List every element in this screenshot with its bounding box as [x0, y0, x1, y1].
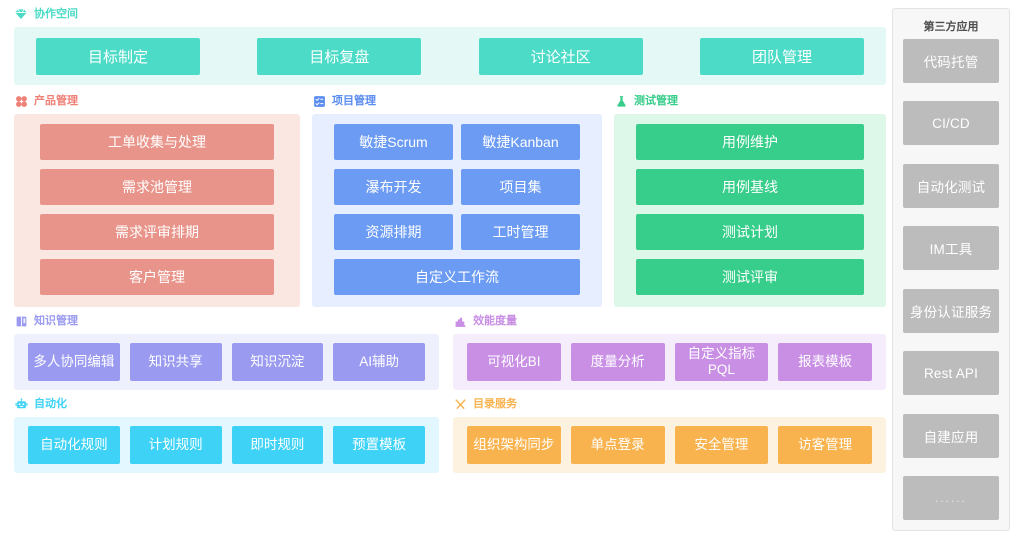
third-party-column: 第三方应用 代码托管 CI/CD 自动化测试 IM工具 身份认证服务 Rest … [886, 4, 1024, 547]
collab-tile-1[interactable]: 目标复盘 [257, 38, 421, 75]
section-knowledge: 知识管理 多人协同编辑 知识共享 知识沉淀 AI辅助 [14, 311, 439, 390]
directory-tile-2[interactable]: 安全管理 [675, 426, 769, 464]
automation-tile-3[interactable]: 预置模板 [333, 426, 425, 464]
row-automation-directory: 自动化 自动化规则 计划规则 即时规则 预置模板 目录服务 [14, 394, 886, 473]
section-header-automation: 自动化 [14, 394, 439, 414]
automation-tile-0[interactable]: 自动化规则 [28, 426, 120, 464]
section-header-metrics: 效能度量 [453, 311, 886, 331]
section-title-product: 产品管理 [34, 96, 78, 107]
bar-chart-icon [453, 314, 467, 328]
section-title-test: 测试管理 [634, 96, 678, 107]
test-tile-1[interactable]: 用例基线 [636, 169, 864, 205]
directory-tile-1[interactable]: 单点登录 [571, 426, 665, 464]
project-tile-3[interactable]: 项目集 [461, 169, 580, 205]
section-title-knowledge: 知识管理 [34, 316, 78, 327]
automation-panel: 自动化规则 计划规则 即时规则 预置模板 [14, 417, 439, 473]
project-tile-2[interactable]: 瀑布开发 [334, 169, 453, 205]
project-tile-6[interactable]: 自定义工作流 [334, 259, 580, 295]
test-tile-2[interactable]: 测试计划 [636, 214, 864, 250]
section-header-test: 测试管理 [614, 91, 886, 111]
gem-icon [14, 7, 28, 21]
test-panel: 用例维护 用例基线 测试计划 测试评审 [614, 114, 886, 307]
product-tile-3[interactable]: 客户管理 [40, 259, 274, 295]
third-party-tile-4[interactable]: 身份认证服务 [903, 289, 999, 333]
knowledge-tile-2[interactable]: 知识沉淀 [232, 343, 324, 381]
section-title-collaboration: 协作空间 [34, 9, 78, 20]
capability-map: 协作空间 目标制定 目标复盘 讨论社区 团队管理 产品管理 [0, 0, 1024, 547]
third-party-tile-3[interactable]: IM工具 [903, 226, 999, 270]
flask-icon [614, 94, 628, 108]
automation-tile-2[interactable]: 即时规则 [232, 426, 324, 464]
metrics-tile-1[interactable]: 度量分析 [571, 343, 665, 381]
section-product: 产品管理 工单收集与处理 需求池管理 需求评审排期 客户管理 [14, 91, 300, 307]
directory-tile-3[interactable]: 访客管理 [778, 426, 872, 464]
checklist-icon [312, 94, 326, 108]
book-icon [14, 314, 28, 328]
knowledge-tile-3[interactable]: AI辅助 [333, 343, 425, 381]
section-project: 项目管理 敏捷Scrum 敏捷Kanban 瀑布开发 项目集 资源排期 工时管理… [312, 91, 602, 307]
collab-tile-2[interactable]: 讨论社区 [479, 38, 643, 75]
section-header-project: 项目管理 [312, 91, 602, 111]
test-tile-0[interactable]: 用例维护 [636, 124, 864, 160]
automation-tile-1[interactable]: 计划规则 [130, 426, 222, 464]
main-column: 协作空间 目标制定 目标复盘 讨论社区 团队管理 产品管理 [0, 4, 886, 547]
section-header-directory: 目录服务 [453, 394, 886, 414]
third-party-title: 第三方应用 [903, 17, 999, 39]
section-metrics: 效能度量 可视化BI 度量分析 自定义指标PQL 报表模板 [453, 311, 886, 390]
section-test: 测试管理 用例维护 用例基线 测试计划 测试评审 [614, 91, 886, 307]
knowledge-tile-1[interactable]: 知识共享 [130, 343, 222, 381]
knowledge-tile-0[interactable]: 多人协同编辑 [28, 343, 120, 381]
third-party-tile-1[interactable]: CI/CD [903, 101, 999, 145]
metrics-panel: 可视化BI 度量分析 自定义指标PQL 报表模板 [453, 334, 886, 390]
test-tile-3[interactable]: 测试评审 [636, 259, 864, 295]
section-title-automation: 自动化 [34, 399, 67, 410]
section-header-knowledge: 知识管理 [14, 311, 439, 331]
third-party-tile-2[interactable]: 自动化测试 [903, 164, 999, 208]
clover-icon [14, 94, 28, 108]
project-tile-4[interactable]: 资源排期 [334, 214, 453, 250]
third-party-tile-6[interactable]: 自建应用 [903, 414, 999, 458]
product-panel: 工单收集与处理 需求池管理 需求评审排期 客户管理 [14, 114, 300, 307]
collaboration-panel: 目标制定 目标复盘 讨论社区 团队管理 [14, 27, 886, 85]
product-tile-0[interactable]: 工单收集与处理 [40, 124, 274, 160]
metrics-tile-0[interactable]: 可视化BI [467, 343, 561, 381]
knowledge-panel: 多人协同编辑 知识共享 知识沉淀 AI辅助 [14, 334, 439, 390]
third-party-tile-0[interactable]: 代码托管 [903, 39, 999, 83]
collab-tile-3[interactable]: 团队管理 [700, 38, 864, 75]
section-header-collaboration: 协作空间 [14, 4, 886, 24]
metrics-tile-3[interactable]: 报表模板 [778, 343, 872, 381]
project-tile-5[interactable]: 工时管理 [461, 214, 580, 250]
project-panel: 敏捷Scrum 敏捷Kanban 瀑布开发 项目集 资源排期 工时管理 自定义工… [312, 114, 602, 307]
section-collaboration: 协作空间 目标制定 目标复盘 讨论社区 团队管理 [14, 4, 886, 85]
product-tile-2[interactable]: 需求评审排期 [40, 214, 274, 250]
directory-panel: 组织架构同步 单点登录 安全管理 访客管理 [453, 417, 886, 473]
project-tile-1[interactable]: 敏捷Kanban [461, 124, 580, 160]
section-title-directory: 目录服务 [473, 399, 517, 410]
product-tile-1[interactable]: 需求池管理 [40, 169, 274, 205]
third-party-tile-5[interactable]: Rest API [903, 351, 999, 395]
collab-tile-0[interactable]: 目标制定 [36, 38, 200, 75]
row-knowledge-metrics: 知识管理 多人协同编辑 知识共享 知识沉淀 AI辅助 效能度量 [14, 311, 886, 390]
directory-tile-0[interactable]: 组织架构同步 [467, 426, 561, 464]
metrics-tile-2[interactable]: 自定义指标PQL [675, 343, 769, 381]
third-party-tile-7[interactable]: ...... [903, 476, 999, 520]
third-party-list: 代码托管 CI/CD 自动化测试 IM工具 身份认证服务 Rest API 自建… [903, 39, 999, 520]
section-header-product: 产品管理 [14, 91, 300, 111]
robot-icon [14, 397, 28, 411]
section-directory: 目录服务 组织架构同步 单点登录 安全管理 访客管理 [453, 394, 886, 473]
section-automation: 自动化 自动化规则 计划规则 即时规则 预置模板 [14, 394, 439, 473]
third-party-panel: 第三方应用 代码托管 CI/CD 自动化测试 IM工具 身份认证服务 Rest … [892, 8, 1010, 531]
section-title-project: 项目管理 [332, 96, 376, 107]
row-product-project-test: 产品管理 工单收集与处理 需求池管理 需求评审排期 客户管理 项目管 [14, 91, 886, 307]
project-tile-0[interactable]: 敏捷Scrum [334, 124, 453, 160]
section-title-metrics: 效能度量 [473, 316, 517, 327]
tools-icon [453, 397, 467, 411]
